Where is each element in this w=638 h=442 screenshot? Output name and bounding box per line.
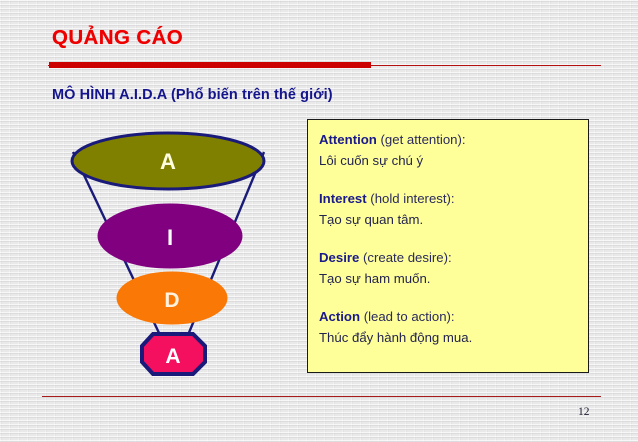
aida-paren-interest: (hold interest): [367,191,455,206]
aida-entry-desire: Desire (create desire): Tạo sự ham muốn. [319,247,588,289]
aida-heading-action: Action (lead to action): [319,306,588,327]
aida-heading-attention: Attention (get attention): [319,129,588,150]
page-number: 12 [578,406,590,418]
aida-keyword-interest: Interest [319,191,367,206]
aida-entry-interest: Interest (hold interest): Tạo sự quan tâ… [319,188,588,230]
aida-description-panel: Attention (get attention): Lôi cuốn sự c… [307,119,589,373]
funnel-label-desire: D [164,289,179,312]
aida-keyword-desire: Desire [319,250,359,265]
aida-body-action: Thúc đẩy hành động mua. [319,327,588,348]
aida-keyword-action: Action [319,309,360,324]
aida-keyword-attention: Attention [319,132,377,147]
footer-divider [42,396,601,397]
aida-body-desire: Tạo sự ham muốn. [319,268,588,289]
funnel-stage-attention: A [72,133,264,189]
funnel-stage-desire: D [117,272,227,324]
aida-heading-desire: Desire (create desire): [319,247,588,268]
funnel-label-attention: A [160,149,176,174]
page-title: QUẢNG CÁO [52,26,183,50]
aida-entry-attention: Attention (get attention): Lôi cuốn sự c… [319,129,588,171]
slide-canvas: QUẢNG CÁO MÔ HÌNH A.I.D.A (Phổ biến trên… [0,0,638,442]
funnel-label-action: A [165,345,180,368]
aida-paren-attention: (get attention): [377,132,466,147]
aida-heading-interest: Interest (hold interest): [319,188,588,209]
aida-funnel-diagram: A I D A [50,130,300,380]
funnel-label-interest: I [167,225,173,250]
title-underline-thick [49,62,371,68]
aida-paren-action: (lead to action): [360,309,455,324]
aida-body-attention: Lôi cuốn sự chú ý [319,150,588,171]
aida-entry-action: Action (lead to action): Thúc đẩy hành đ… [319,306,588,348]
funnel-stage-interest: I [98,204,242,268]
funnel-stage-action: A [142,334,205,374]
aida-body-interest: Tạo sự quan tâm. [319,209,588,230]
slide-subtitle: MÔ HÌNH A.I.D.A (Phổ biến trên thế giới) [52,87,333,103]
aida-paren-desire: (create desire): [359,250,451,265]
